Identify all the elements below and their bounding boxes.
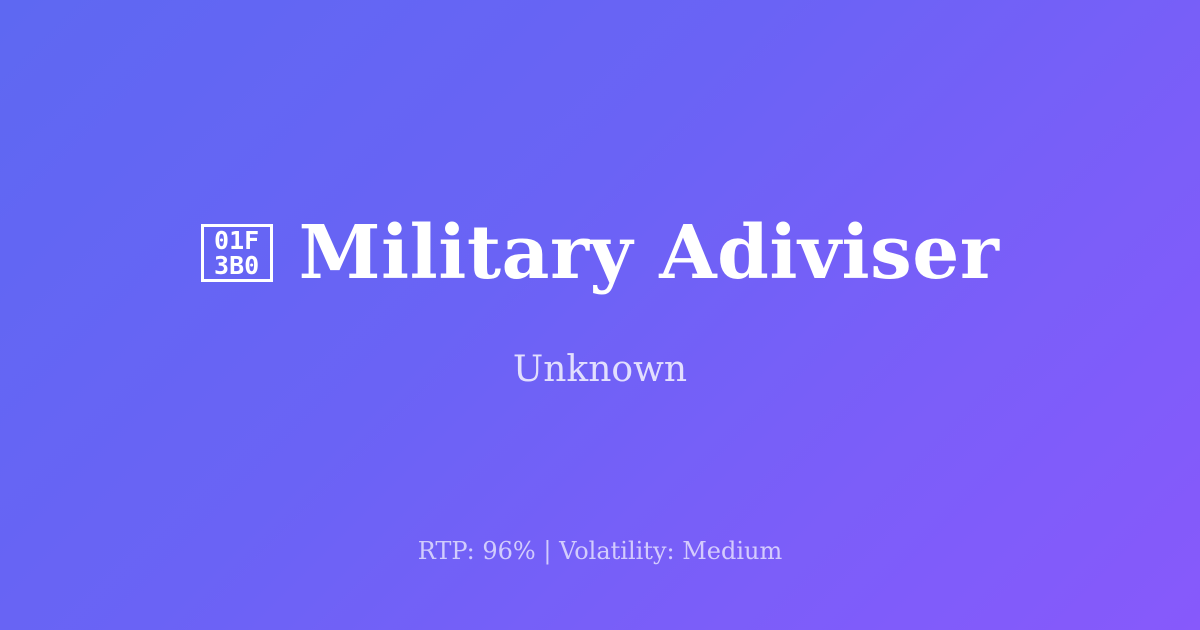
- title-row: 01F 3B0 Military Adiviser: [201, 215, 1000, 293]
- slot-machine-icon-codepoint-low: 3B0: [214, 253, 259, 278]
- game-provider: Unknown: [513, 292, 687, 391]
- game-meta-line: RTP: 96% | Volatility: Medium: [0, 537, 1200, 566]
- slot-machine-icon: 01F 3B0: [201, 224, 273, 282]
- slot-machine-icon-codepoint-high: 01F: [214, 228, 259, 253]
- hero-block: 01F 3B0 Military Adiviser Unknown: [201, 215, 1000, 392]
- game-title: Military Adiviser: [299, 215, 1000, 293]
- game-og-card: 01F 3B0 Military Adiviser Unknown RTP: 9…: [0, 0, 1200, 630]
